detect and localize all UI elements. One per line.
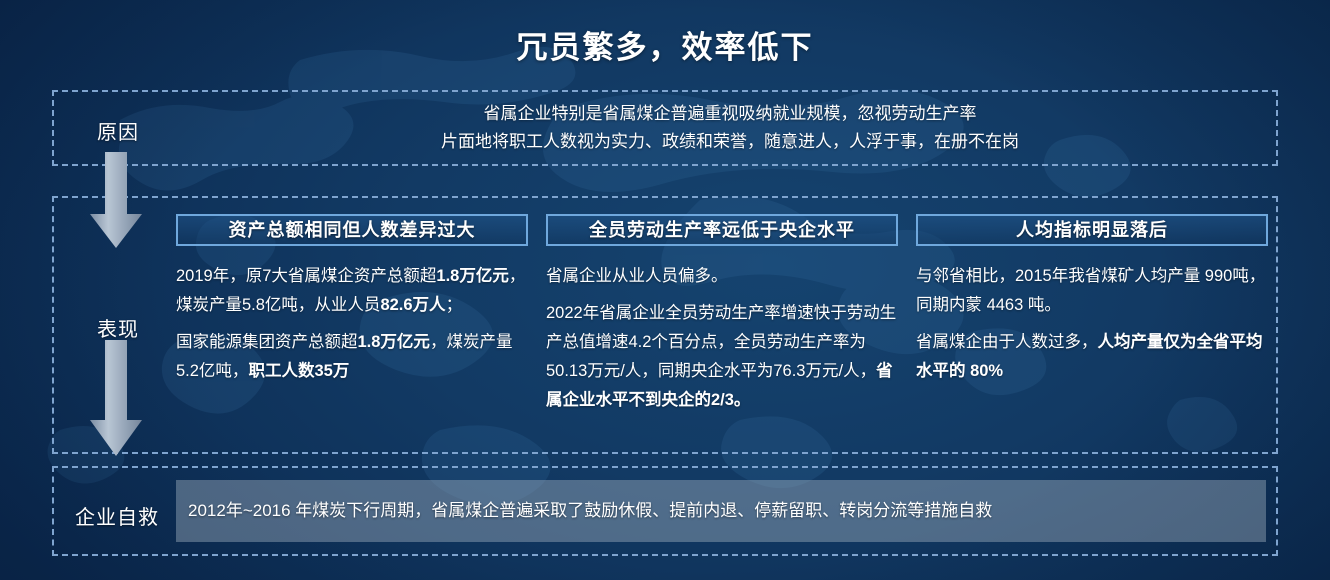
- cause-text: 省属企业特别是省属煤企普遍重视吸纳就业规模，忽视劳动生产率 片面地将职工人数视为…: [200, 100, 1260, 156]
- symptom-column-1-heading: 资产总额相同但人数差异过大: [176, 214, 528, 246]
- down-arrow-icon-1: [88, 152, 144, 250]
- symptom-column-2-heading: 全员劳动生产率远低于央企水平: [546, 214, 898, 246]
- symptom-column-3-heading: 人均指标明显落后: [916, 214, 1268, 246]
- paragraph: 省属煤企由于人数过多，人均产量仅为全省平均水平的 80%: [916, 328, 1268, 386]
- paragraph: 2019年，原7大省属煤企资产总额超1.8万亿元，煤炭产量5.8亿吨，从业人员8…: [176, 262, 528, 320]
- cause-line: 片面地将职工人数视为实力、政绩和荣誉，随意进人，人浮于事，在册不在岗: [200, 128, 1260, 156]
- paragraph: 国家能源集团资产总额超1.8万亿元，煤炭产量5.2亿吨，职工人数35万: [176, 328, 528, 386]
- symptom-column-1: 资产总额相同但人数差异过大 2019年，原7大省属煤企资产总额超1.8万亿元，煤…: [176, 214, 528, 394]
- symptom-column-3: 人均指标明显落后 与邻省相比，2015年我省煤矿人均产量 990吨，同期内蒙 4…: [916, 214, 1268, 394]
- slide-root: 冗员繁多，效率低下 原因 表现 企业自救: [0, 0, 1330, 580]
- self-rescue-text: 2012年~2016 年煤炭下行周期，省属煤企普遍采取了鼓励休假、提前内退、停薪…: [176, 498, 992, 524]
- self-rescue-label: 企业自救: [52, 501, 182, 530]
- down-arrow-icon-2: [88, 340, 144, 458]
- paragraph: 与邻省相比，2015年我省煤矿人均产量 990吨，同期内蒙 4463 吨。: [916, 262, 1268, 320]
- cause-label: 原因: [58, 116, 178, 145]
- paragraph: 省属企业从业人员偏多。: [546, 262, 898, 291]
- page-title: 冗员繁多，效率低下: [0, 22, 1330, 67]
- symptom-label: 表现: [58, 313, 178, 342]
- symptom-column-1-body: 2019年，原7大省属煤企资产总额超1.8万亿元，煤炭产量5.8亿吨，从业人员8…: [176, 262, 528, 386]
- cause-line: 省属企业特别是省属煤企普遍重视吸纳就业规模，忽视劳动生产率: [200, 100, 1260, 128]
- self-rescue-bar: 2012年~2016 年煤炭下行周期，省属煤企普遍采取了鼓励休假、提前内退、停薪…: [176, 480, 1266, 542]
- paragraph: 2022年省属企业全员劳动生产率增速快于劳动生产总值增速4.2个百分点，全员劳动…: [546, 299, 898, 415]
- symptom-column-2: 全员劳动生产率远低于央企水平 省属企业从业人员偏多。2022年省属企业全员劳动生…: [546, 214, 898, 423]
- symptom-column-2-body: 省属企业从业人员偏多。2022年省属企业全员劳动生产率增速快于劳动生产总值增速4…: [546, 262, 898, 415]
- symptom-column-3-body: 与邻省相比，2015年我省煤矿人均产量 990吨，同期内蒙 4463 吨。省属煤…: [916, 262, 1268, 386]
